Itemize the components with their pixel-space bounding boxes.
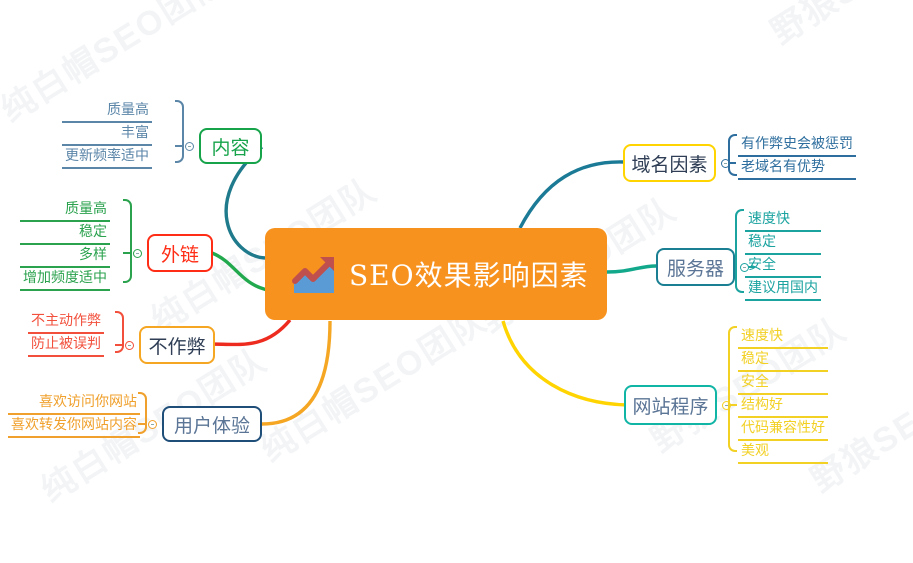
subitem-content[interactable]: 更新频率适中: [62, 146, 152, 169]
link-domain: [520, 162, 623, 228]
subitem-label: 稳定: [748, 233, 776, 251]
subitem-group-content: 质量高丰富更新频率适中: [62, 100, 152, 169]
subitem-group-nocheat: 不主动作弊防止被误判: [28, 311, 104, 357]
branch-node-label: 外链: [161, 240, 199, 267]
subitem-bracket-server: [735, 209, 744, 293]
subitem-label: 增加频度适中: [23, 269, 107, 287]
link-server: [607, 266, 656, 272]
subitem-program[interactable]: 安全: [738, 372, 828, 395]
subitem-userexp[interactable]: 喜欢访问你网站: [8, 392, 140, 415]
link-program: [503, 321, 628, 405]
branch-node-label: 用户体验: [174, 411, 250, 438]
branch-node-userexp[interactable]: 用户体验: [162, 406, 262, 442]
subitem-stub-content: [175, 145, 182, 147]
subitem-group-userexp: 喜欢访问你网站喜欢转发你网站内容: [8, 392, 140, 438]
subitem-backlink[interactable]: 质量高: [20, 199, 110, 222]
subitem-group-domain: 有作弊史会被惩罚老域名有优势: [738, 134, 856, 180]
subitem-group-server: 速度快稳定安全建议用国内: [745, 209, 821, 301]
subitem-label: 速度快: [741, 327, 783, 345]
branch-node-server[interactable]: 服务器: [656, 248, 735, 286]
subitem-group-backlink: 质量高稳定多样增加频度适中: [20, 199, 110, 291]
branch-node-program[interactable]: 网站程序: [624, 385, 717, 425]
subitem-bracket-content: [175, 100, 184, 163]
subitem-label: 稳定: [79, 223, 107, 241]
subitem-label: 丰富: [121, 124, 149, 142]
subitem-server[interactable]: 速度快: [745, 209, 821, 232]
subitem-label: 美观: [741, 442, 769, 460]
subitem-label: 老域名有优势: [741, 158, 825, 176]
subitem-program[interactable]: 稳定: [738, 349, 828, 372]
subitem-stub-userexp: [138, 423, 145, 425]
growth-chart-icon: [291, 253, 337, 295]
subitem-server[interactable]: 安全: [745, 255, 821, 278]
subitem-label: 喜欢转发你网站内容: [11, 416, 137, 434]
subitem-stub-program: [730, 404, 737, 406]
subitem-domain[interactable]: 有作弊史会被惩罚: [738, 134, 856, 157]
central-node[interactable]: SEO效果影响因素: [265, 228, 607, 320]
subitem-stub-domain: [729, 162, 736, 164]
subitem-program[interactable]: 速度快: [738, 326, 828, 349]
subitem-bracket-backlink: [123, 199, 132, 283]
subitem-label: 安全: [748, 256, 776, 274]
subitem-backlink[interactable]: 多样: [20, 245, 110, 268]
subitem-label: 更新频率适中: [65, 147, 149, 165]
subitem-label: 速度快: [748, 210, 790, 228]
subitem-program[interactable]: 美观: [738, 441, 828, 464]
central-node-label: SEO效果影响因素: [349, 254, 589, 294]
collapse-toggle-userexp[interactable]: [148, 420, 157, 429]
subitem-nocheat[interactable]: 防止被误判: [28, 334, 104, 357]
branch-node-label: 不作弊: [149, 332, 206, 359]
subitem-bracket-userexp: [138, 392, 147, 434]
branch-node-domain[interactable]: 域名因素: [623, 144, 716, 182]
subitem-label: 稳定: [741, 350, 769, 368]
subitem-userexp[interactable]: 喜欢转发你网站内容: [8, 415, 140, 438]
branch-node-label: 网站程序: [633, 392, 709, 419]
subitem-stub-backlink: [123, 252, 130, 254]
subitem-label: 结构好: [741, 396, 783, 414]
subitem-content[interactable]: 丰富: [62, 123, 152, 146]
subitem-domain[interactable]: 老域名有优势: [738, 157, 856, 180]
collapse-toggle-nocheat[interactable]: [125, 341, 134, 350]
mindmap-canvas: 野狼SEO团队纯白帽SEO团队纯白帽SEO团队野狼SEO团队纯白帽SEO团队野狼…: [0, 0, 913, 563]
branch-node-label: 服务器: [667, 254, 724, 281]
subitem-label: 质量高: [65, 200, 107, 218]
branch-node-label: 内容: [212, 133, 250, 160]
collapse-toggle-content[interactable]: [185, 142, 194, 151]
subitem-bracket-program: [728, 326, 737, 452]
subitem-label: 代码兼容性好: [741, 419, 825, 437]
branch-node-content[interactable]: 内容: [199, 128, 262, 164]
subitem-program[interactable]: 结构好: [738, 395, 828, 418]
subitem-stub-server: [748, 266, 755, 268]
subitem-label: 不主动作弊: [31, 312, 101, 330]
link-nocheat: [209, 320, 290, 344]
subitem-server[interactable]: 稳定: [745, 232, 821, 255]
subitem-stub-nocheat: [115, 344, 122, 346]
subitem-label: 建议用国内: [748, 279, 818, 297]
subitem-content[interactable]: 质量高: [62, 100, 152, 123]
subitem-label: 有作弊史会被惩罚: [741, 135, 853, 153]
subitem-label: 防止被误判: [31, 335, 101, 353]
subitem-backlink[interactable]: 稳定: [20, 222, 110, 245]
collapse-toggle-backlink[interactable]: [133, 249, 142, 258]
branch-node-nocheat[interactable]: 不作弊: [139, 326, 215, 364]
subitem-backlink[interactable]: 增加频度适中: [20, 268, 110, 291]
subitem-bracket-domain: [728, 134, 737, 176]
branch-node-label: 域名因素: [632, 150, 708, 177]
subitem-label: 安全: [741, 373, 769, 391]
subitem-label: 多样: [79, 246, 107, 264]
subitem-group-program: 速度快稳定安全结构好代码兼容性好美观: [738, 326, 828, 464]
subitem-program[interactable]: 代码兼容性好: [738, 418, 828, 441]
subitem-nocheat[interactable]: 不主动作弊: [28, 311, 104, 334]
branch-node-backlink[interactable]: 外链: [147, 234, 213, 272]
subitem-label: 质量高: [107, 101, 149, 119]
subitem-bracket-nocheat: [115, 311, 124, 353]
subitem-server[interactable]: 建议用国内: [745, 278, 821, 301]
subitem-label: 喜欢访问你网站: [39, 393, 137, 411]
